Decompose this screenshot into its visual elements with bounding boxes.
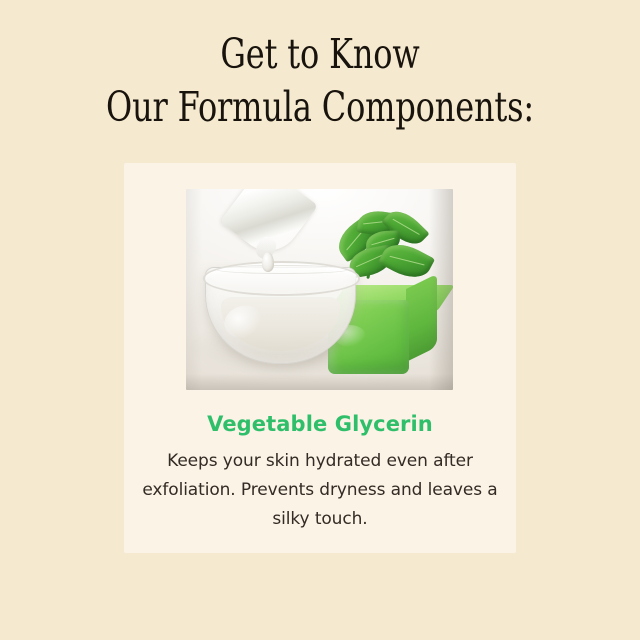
soap-side-face <box>406 274 437 361</box>
promo-page: Get to Know Our Formula Components: <box>0 0 640 640</box>
page-title: Get to Know Our Formula Components: <box>70 28 569 134</box>
ingredient-card: Vegetable Glycerin Keeps your skin hydra… <box>124 163 516 553</box>
page-title-line-2: Our Formula Components: <box>70 81 569 134</box>
dropper-pipette-icon <box>215 189 295 277</box>
photo-backdrop <box>186 189 453 390</box>
ingredient-name: Vegetable Glycerin <box>124 411 516 437</box>
ingredient-photo <box>186 189 453 390</box>
glycerin-droplet <box>262 252 274 272</box>
page-title-line-1: Get to Know <box>70 28 569 81</box>
ingredient-description: Keeps your skin hydrated even after exfo… <box>136 447 504 534</box>
